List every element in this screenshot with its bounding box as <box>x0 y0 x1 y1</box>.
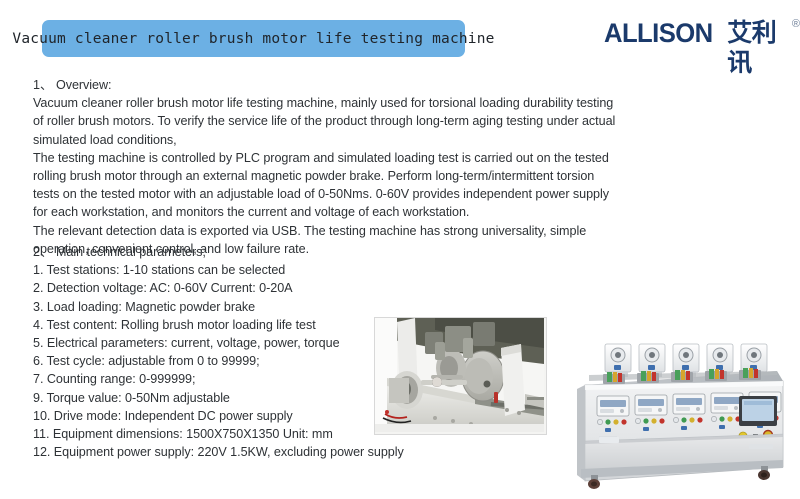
nameplate <box>599 437 619 443</box>
parameter-item: 1. Test stations: 1-10 stations can be s… <box>33 261 623 279</box>
hmi-touchscreen <box>739 396 777 426</box>
parameter-item: 2. Detection voltage: AC: 0-60V Current:… <box>33 279 623 297</box>
parameters-heading: 2、 Main technical parameters; <box>33 243 623 261</box>
parameter-item: 3. Load loading: Magnetic powder brake <box>33 298 623 316</box>
mechanism-photo-image <box>375 318 544 432</box>
nameplate <box>749 444 773 449</box>
overview-line: simulated load conditions, <box>33 131 623 149</box>
logo-wordmark: ALLISON <box>604 18 713 48</box>
overview-line: The relevant detection data is exported … <box>33 222 623 240</box>
title-banner: Vacuum cleaner roller brush motor life t… <box>42 20 465 57</box>
overview-line: for each workstation, and monitors the c… <box>33 203 623 221</box>
company-logo: ALLISON 艾利讯 ® <box>604 18 800 54</box>
registered-trademark-icon: ® <box>792 19 800 30</box>
cabinet-photo-image <box>563 341 791 499</box>
overview-line: tests on the tested motor with an adjust… <box>33 185 623 203</box>
overview-line: rolling brush motor through an external … <box>33 167 623 185</box>
parameter-item: 12. Equipment power supply: 220V 1.5KW, … <box>33 443 623 461</box>
overview-heading: 1、 Overview: <box>33 76 623 94</box>
cabinet-photo <box>563 341 791 499</box>
overview-line: of roller brush motors. To verify the se… <box>33 112 623 130</box>
page-content: 1、 Overview: Vacuum cleaner roller brush… <box>0 68 800 450</box>
mechanism-photo <box>374 317 547 435</box>
overview-section: 1、 Overview: Vacuum cleaner roller brush… <box>33 76 623 258</box>
page-header: Vacuum cleaner roller brush motor life t… <box>0 0 800 68</box>
overview-line: The testing machine is controlled by PLC… <box>33 149 623 167</box>
page-title: Vacuum cleaner roller brush motor life t… <box>12 31 494 47</box>
overview-line: Vacuum cleaner roller brush motor life t… <box>33 94 623 112</box>
